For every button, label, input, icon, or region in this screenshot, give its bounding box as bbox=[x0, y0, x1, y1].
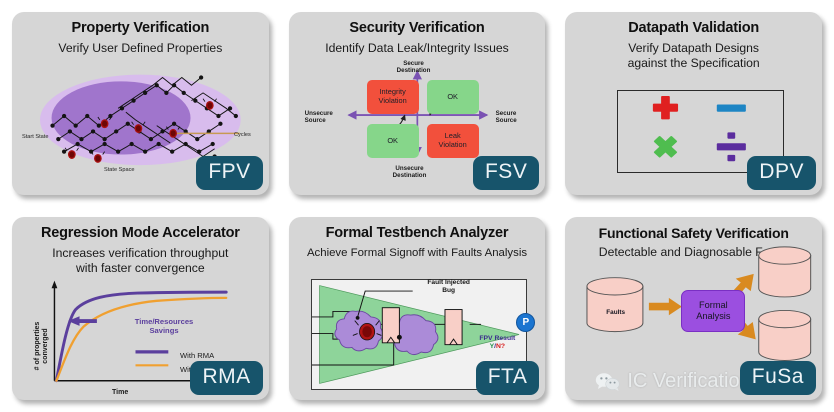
fusa-unsafe-faults-label: UnsafeFaults bbox=[737, 345, 822, 360]
fsv-quadrant-integrity-violation: IntegrityViolation bbox=[367, 80, 419, 114]
fsv-axis-label-bottom: UnsecureDestination bbox=[393, 165, 427, 179]
badge-rma[interactable]: RMA bbox=[190, 361, 262, 395]
badge-fusa[interactable]: FuSa bbox=[740, 361, 816, 395]
fsv-q3-label: OK bbox=[387, 137, 398, 146]
minus-icon bbox=[717, 105, 746, 112]
rma-x-axis-label: Time bbox=[112, 389, 128, 396]
fusa-safe-faults-label: SafeFaults bbox=[737, 279, 822, 294]
fta-result-label: FPV ResultY/N? bbox=[465, 335, 529, 352]
multiply-icon bbox=[648, 130, 684, 163]
card-title: Formal Testbench Analyzer bbox=[289, 226, 546, 242]
rma-y-axis-label: # of propertiesconverged bbox=[34, 307, 50, 385]
card-title: Datapath Validation bbox=[565, 21, 822, 37]
fpv-start-state-label: Start State bbox=[22, 134, 48, 140]
register-1 bbox=[382, 308, 399, 343]
fsv-axis-label-right: SecureSource bbox=[496, 110, 517, 124]
fsv-axis-label-top: SecureDestination bbox=[397, 60, 431, 74]
card-grid: Property Verification Verify User Define… bbox=[0, 0, 834, 412]
fsv-quadrant-ok-bottom: OK bbox=[367, 124, 419, 158]
cylinder-faults bbox=[587, 278, 643, 332]
fsv-quadrant-leak-violation: LeakViolation bbox=[427, 124, 479, 158]
card-security-verification[interactable]: Security Verification Identify Data Leak… bbox=[289, 12, 546, 195]
card-subtitle: Achieve Formal Signoff with Faults Analy… bbox=[289, 246, 546, 260]
fsv-q4-label: LeakViolation bbox=[439, 132, 467, 149]
badge-dpv[interactable]: DPV bbox=[747, 156, 816, 190]
fsv-q1-label: OK bbox=[447, 93, 458, 102]
card-datapath-validation[interactable]: Datapath Validation Verify Datapath Desi… bbox=[565, 12, 822, 195]
divide-icon bbox=[717, 132, 746, 161]
fsv-quadrant-ok-top: OK bbox=[427, 80, 479, 114]
fusa-faults-label: Faults bbox=[565, 309, 744, 317]
fta-bug-label: Fault InjectedBug bbox=[409, 279, 489, 295]
rma-legend-with-rma: With RMA bbox=[180, 351, 214, 360]
badge-fsv[interactable]: FSV bbox=[473, 156, 539, 190]
card-subtitle: Verify Datapath Designsagainst the Speci… bbox=[565, 41, 822, 72]
fpv-cycles-label: Cycles bbox=[234, 132, 251, 138]
wechat-icon bbox=[595, 372, 621, 392]
rma-savings-annotation: Time/ResourcesSavings bbox=[116, 317, 212, 336]
plus-icon bbox=[653, 96, 678, 119]
card-formal-testbench-analyzer[interactable]: Formal Testbench Analyzer Achieve Formal… bbox=[289, 217, 546, 400]
fpv-state-space-label: State Space bbox=[104, 167, 134, 173]
fta-no: N? bbox=[496, 343, 505, 350]
card-property-verification[interactable]: Property Verification Verify User Define… bbox=[12, 12, 269, 195]
fsv-q2-label: IntegrityViolation bbox=[379, 88, 407, 105]
register-2 bbox=[445, 310, 462, 345]
fta-property-node: P bbox=[516, 313, 535, 332]
fsv-axis-label-left: UnsecureSource bbox=[305, 110, 333, 124]
card-regression-mode-accelerator[interactable]: Regression Mode Accelerator Increases ve… bbox=[12, 217, 269, 400]
card-functional-safety-verification[interactable]: Functional Safety Verification Detectabl… bbox=[565, 217, 822, 400]
badge-fpv[interactable]: FPV bbox=[196, 156, 262, 190]
badge-fta[interactable]: FTA bbox=[476, 361, 540, 395]
fta-yes: Y bbox=[490, 343, 495, 350]
